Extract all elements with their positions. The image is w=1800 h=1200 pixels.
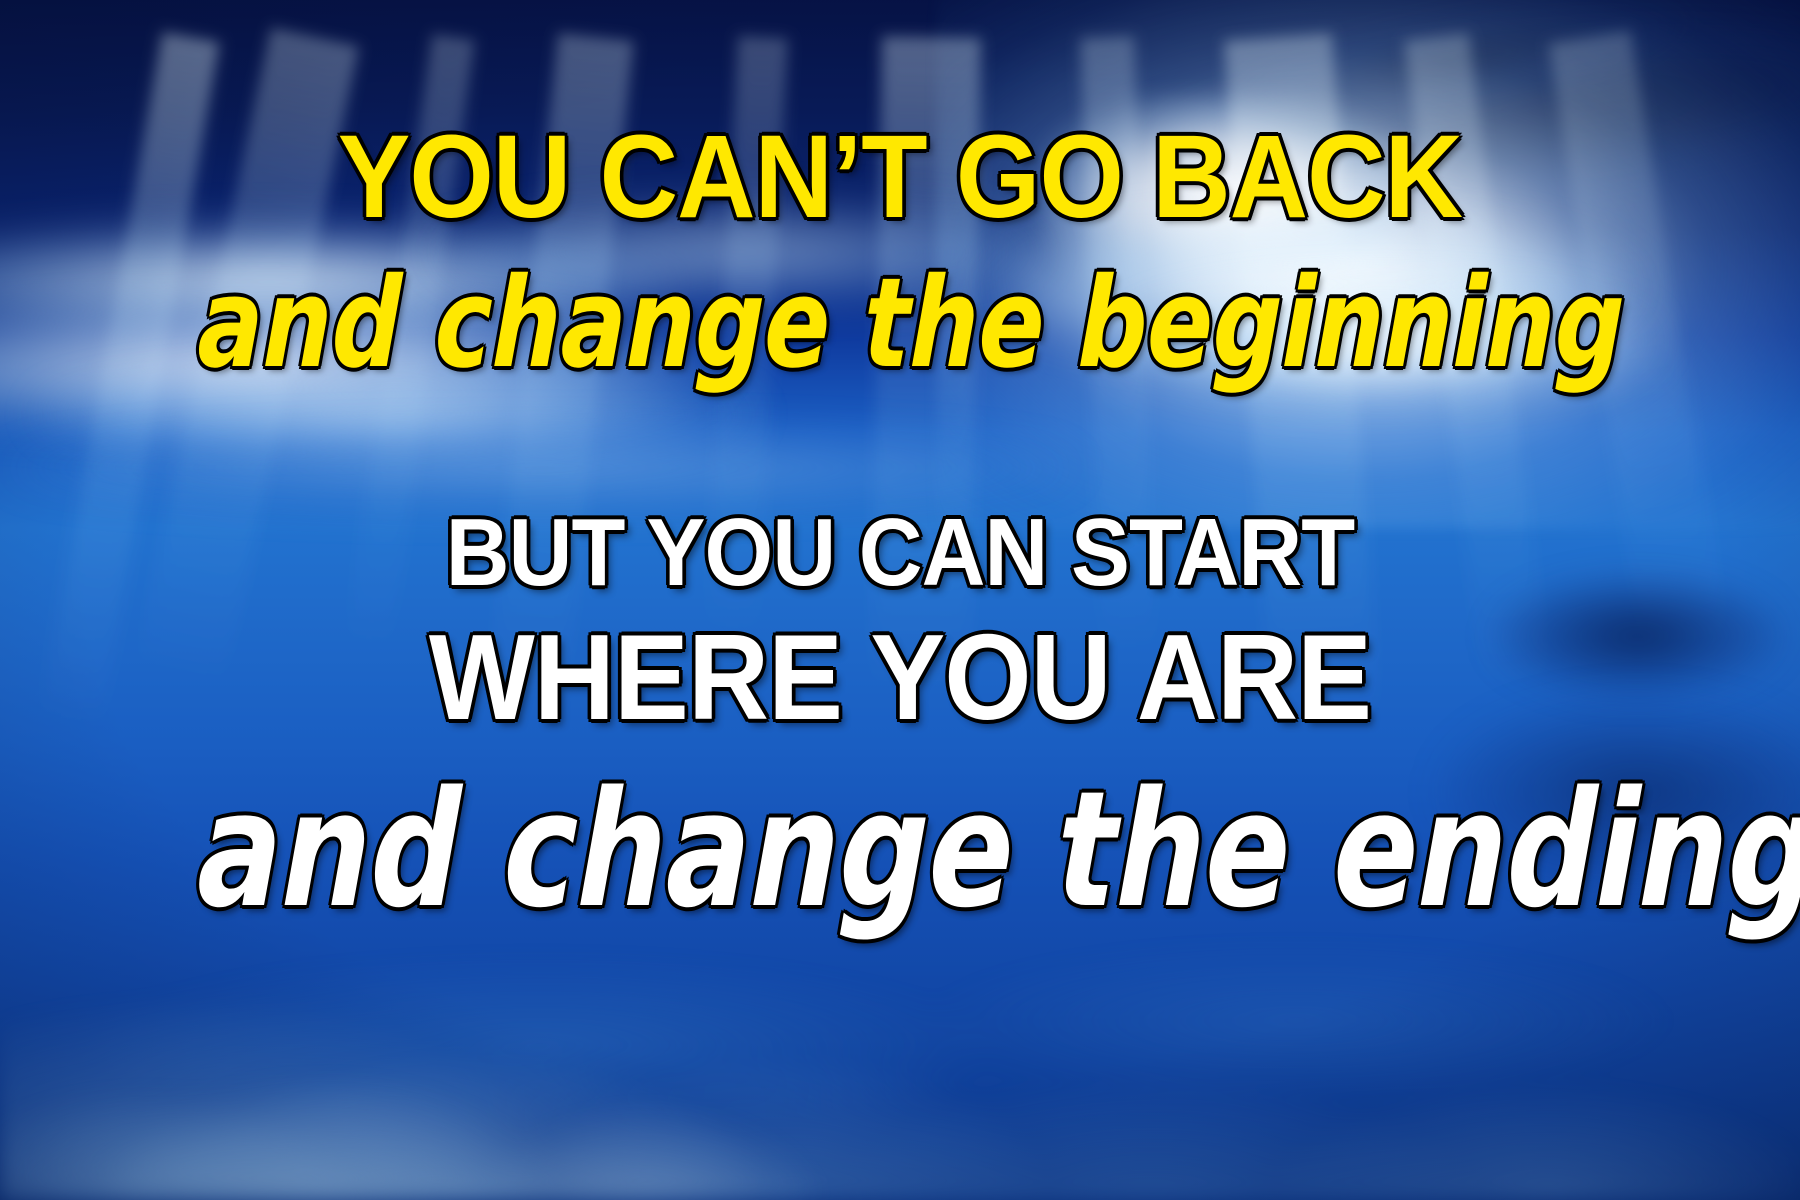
quote-poster: YOU CAN’T GO BACK and change the beginni…	[0, 0, 1800, 1200]
quote-line-4: WHERE YOU ARE	[72, 616, 1728, 738]
quote-line-5: and change the ending	[196, 770, 1604, 930]
quote-line-3: BUT YOU CAN START	[72, 505, 1728, 601]
quote-line-1: YOU CAN’T GO BACK	[72, 118, 1728, 236]
quote-line-2: and change the beginning	[196, 262, 1603, 386]
quote-text-block: YOU CAN’T GO BACK and change the beginni…	[0, 0, 1800, 1200]
